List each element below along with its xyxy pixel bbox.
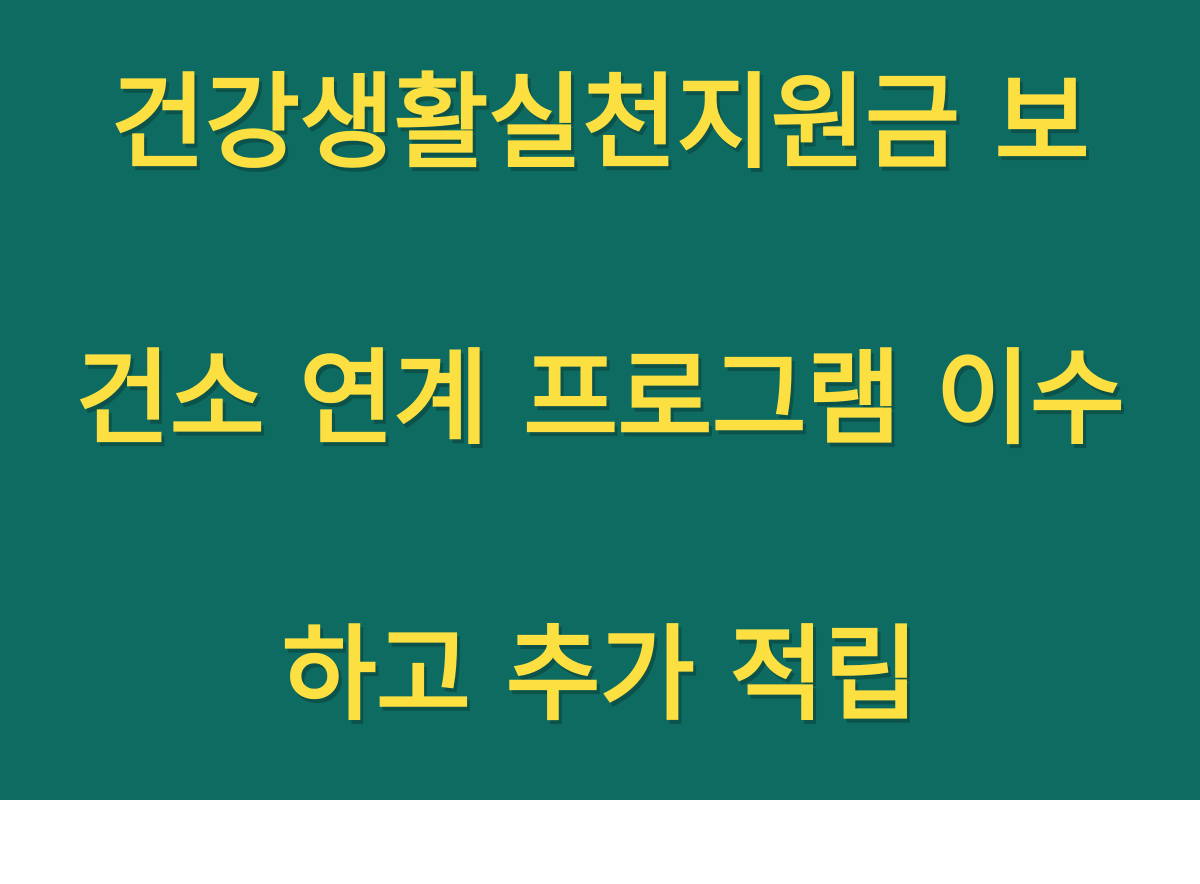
headline-line-1: 건강생활실천지원금 보 — [65, 56, 1135, 192]
headline-line-2: 건소 연계 프로그램 이수 — [65, 332, 1135, 468]
headline: 건강생활실천지원금 보 건소 연계 프로그램 이수 하고 추가 적립 — [65, 0, 1135, 884]
headline-line-3: 하고 추가 적립 — [65, 608, 1135, 744]
text-banner: 건강생활실천지원금 보 건소 연계 프로그램 이수 하고 추가 적립 — [0, 0, 1200, 800]
